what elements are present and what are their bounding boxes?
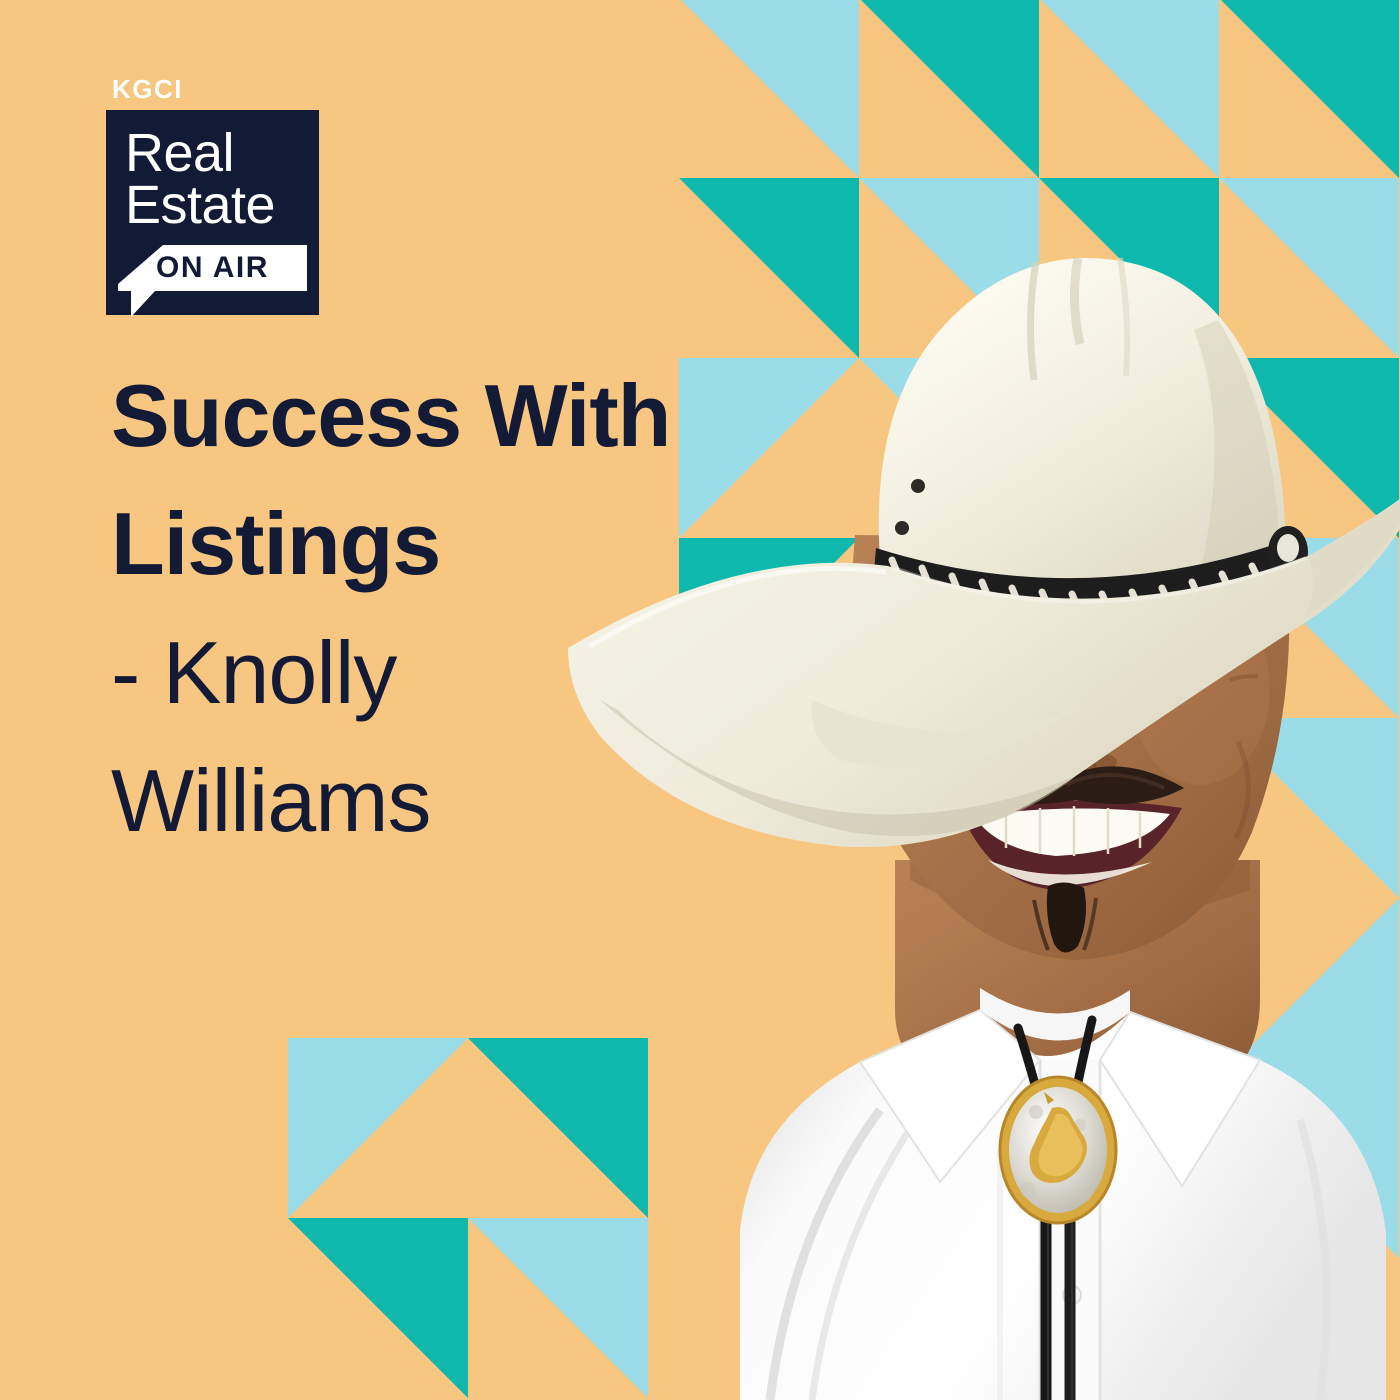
station-callsign: KGCI xyxy=(112,76,346,102)
station-logo-lockup: KGCI Real Estate ON AIR xyxy=(106,76,346,315)
episode-title-line-1: Success With xyxy=(111,352,811,480)
bolo-tie-concho xyxy=(1000,1077,1116,1223)
podcast-cover-art: KGCI Real Estate ON AIR Success With Lis… xyxy=(0,0,1400,1400)
episode-guest-line-2: Williams xyxy=(111,737,811,865)
speech-bubble-tail-icon xyxy=(118,232,178,284)
logo-card: Real Estate ON AIR xyxy=(106,110,319,315)
logo-word-real: Real xyxy=(106,128,319,180)
logo-word-estate: Estate xyxy=(106,180,319,232)
episode-title-block: Success With Listings - Knolly Williams xyxy=(111,352,811,866)
speech-bubble-notch xyxy=(131,291,155,317)
episode-guest-line-1: - Knolly xyxy=(111,609,811,737)
episode-title-line-2: Listings xyxy=(111,480,811,608)
